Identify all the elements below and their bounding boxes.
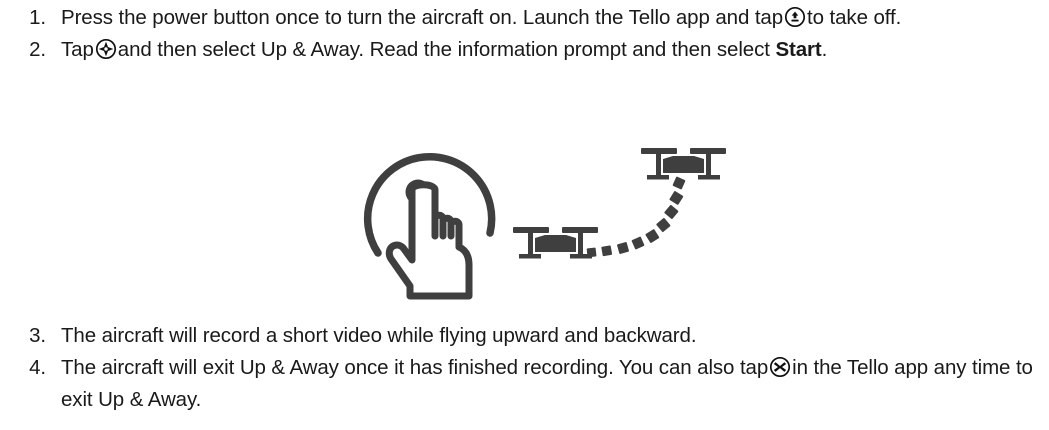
- tap-gesture-icon: [368, 157, 492, 296]
- step-text-before: The aircraft will exit Up & Away once it…: [61, 356, 768, 379]
- drone-end-icon: [641, 148, 726, 180]
- step-text: Press the power button once to turn the …: [46, 2, 901, 34]
- step-text-before: Tap: [61, 38, 94, 61]
- step-number: 4.: [0, 352, 46, 384]
- step-emphasis: Start: [775, 38, 821, 61]
- list-item: 4. The aircraft will exit Up & Away once…: [0, 352, 1049, 416]
- step-text: Tap and then select Up & Away. Read the …: [46, 34, 827, 66]
- step-text: The aircraft will exit Up & Away once it…: [46, 352, 1049, 416]
- step-number: 3.: [0, 320, 46, 352]
- step-text-mid: and then select Up & Away. Read the info…: [118, 38, 770, 61]
- step-text-after: .: [822, 38, 828, 61]
- step-number: 1.: [0, 2, 46, 34]
- flight-path-dotted: [587, 162, 687, 257]
- drone-start-icon: [513, 227, 598, 259]
- step-text: The aircraft will record a short video w…: [46, 320, 696, 352]
- list-item: 3. The aircraft will record a short vide…: [0, 320, 1049, 352]
- takeoff-circle-icon: [784, 6, 806, 28]
- up-and-away-circle-icon: [95, 38, 117, 60]
- instructions-bottom-list: 3. The aircraft will record a short vide…: [0, 320, 1049, 416]
- up-and-away-diagram: [330, 110, 730, 300]
- list-item: 1. Press the power button once to turn t…: [0, 2, 1049, 34]
- step-text-after: to take off.: [807, 6, 901, 29]
- instructions-top-list: 1. Press the power button once to turn t…: [0, 2, 1049, 66]
- list-item: 2. Tap and then select Up & Away. Read t…: [0, 34, 1049, 66]
- exit-x-circle-icon: [769, 356, 791, 378]
- step-number: 2.: [0, 34, 46, 66]
- step-text-before: Press the power button once to turn the …: [61, 6, 783, 29]
